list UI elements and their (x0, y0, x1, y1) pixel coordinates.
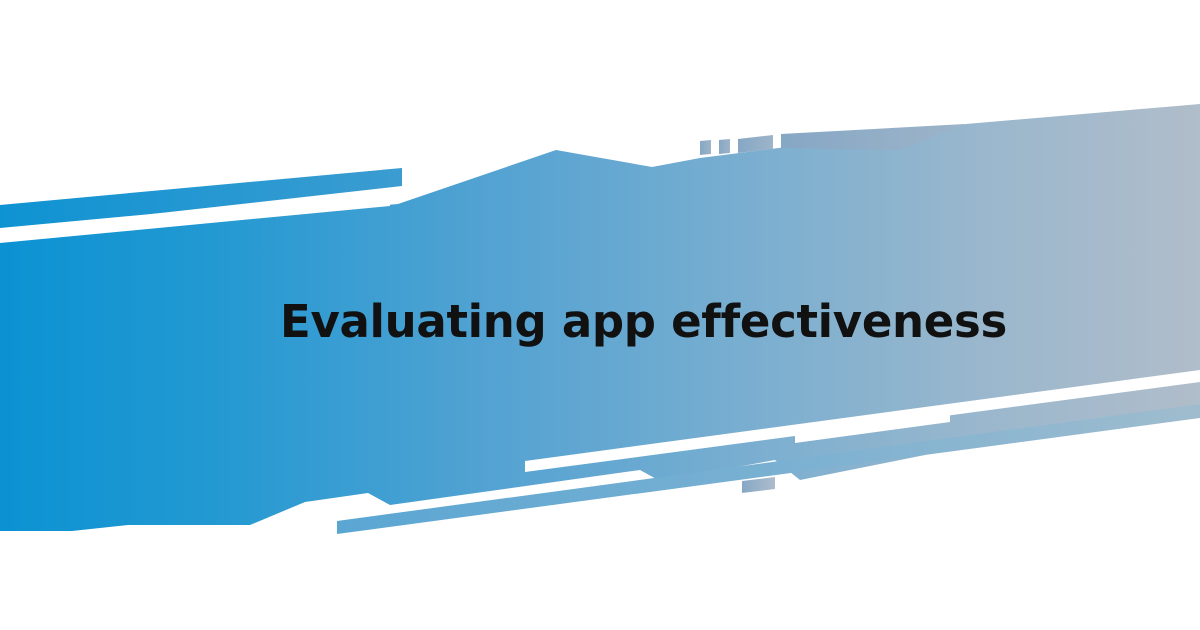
banner-graphic (0, 0, 1200, 630)
top-dash-small-1-shape (700, 140, 711, 155)
top-dash-small-2-shape (719, 139, 730, 154)
banner-stage: Evaluating app effectiveness (0, 0, 1200, 630)
main-body-shape (0, 104, 1200, 531)
bottom-gray-bar-shape (742, 477, 775, 493)
